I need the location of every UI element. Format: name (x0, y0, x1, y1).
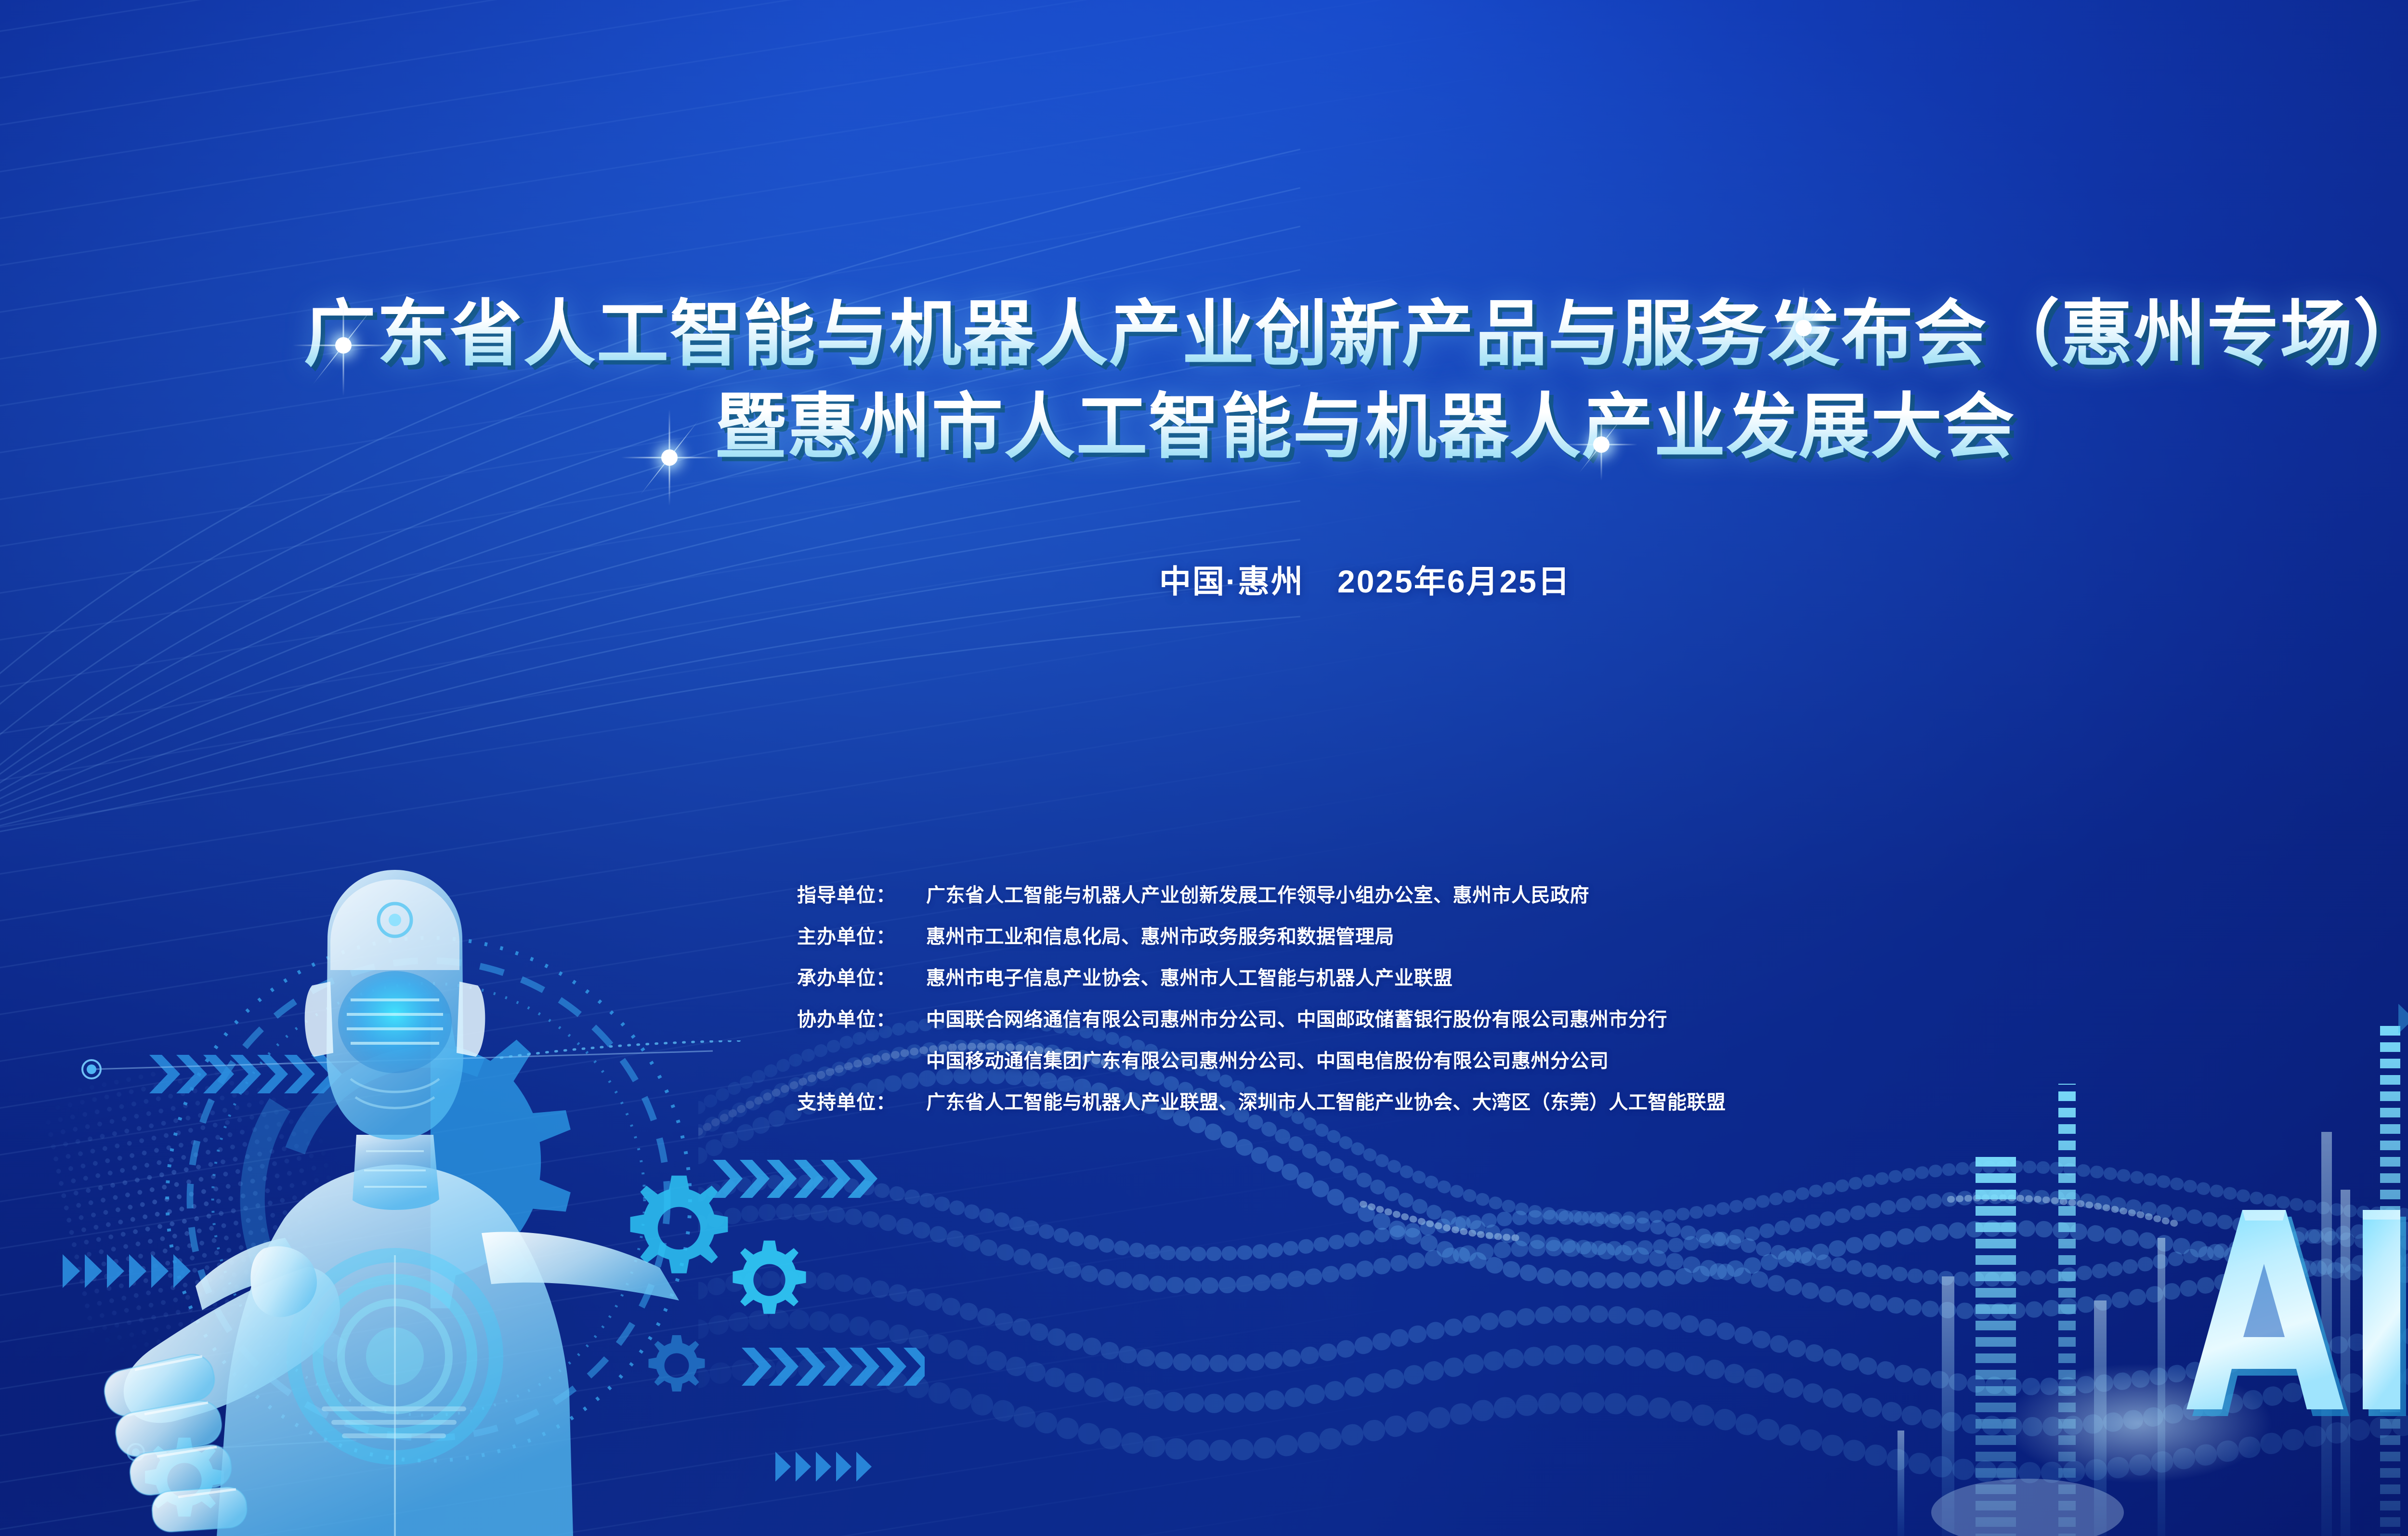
page-title-line-1: 广东省人工智能与机器人产业创新产品与服务发布会（惠州专场） (0, 287, 2408, 381)
conference-banner: 广东省人工智能与机器人产业创新产品与服务发布会（惠州专场） 暨惠州市人工智能与机… (0, 0, 2408, 1536)
organizer-value: 惠州市工业和信息化局、惠州市政务服务和数据管理局 (926, 921, 1394, 949)
organizer-row-continuation: 协办单位： 中国移动通信集团广东有限公司惠州分公司、中国电信股份有限公司惠州分公… (797, 1045, 1726, 1073)
robot-illustration (58, 853, 713, 1536)
organizer-row: 主办单位： 惠州市工业和信息化局、惠州市政务服务和数据管理局 (797, 921, 1726, 949)
organizer-label: 主办单位： (797, 921, 926, 949)
organizer-row: 指导单位： 广东省人工智能与机器人产业创新发展工作领导小组办公室、惠州市人民政府 (797, 880, 1726, 907)
organizer-value: 中国联合网络通信有限公司惠州市分公司、中国邮政储蓄银行股份有限公司惠州市分行 (926, 1004, 1667, 1032)
organizer-label: 承办单位： (797, 962, 926, 990)
organizer-value: 惠州市电子信息产业协会、惠州市人工智能与机器人产业联盟 (926, 962, 1453, 990)
organizer-row: 支持单位： 广东省人工智能与机器人产业联盟、深圳市人工智能产业协会、大湾区（东莞… (797, 1087, 1726, 1115)
organizer-value: 中国移动通信集团广东有限公司惠州分公司、中国电信股份有限公司惠州分公司 (926, 1045, 1609, 1073)
chevron-arrow-cluster-icon (775, 1450, 886, 1483)
chevron-arrow-cluster-icon (713, 1156, 886, 1202)
organizer-value: 广东省人工智能与机器人产业创新发展工作领导小组办公室、惠州市人民政府 (926, 880, 1589, 907)
organizer-value: 广东省人工智能与机器人产业联盟、深圳市人工智能产业协会、大湾区（东莞）人工智能联… (926, 1087, 1726, 1115)
organizer-row: 承办单位： 惠州市电子信息产业协会、惠州市人工智能与机器人产业联盟 (797, 962, 1726, 990)
gear-medium-icon (722, 1233, 816, 1327)
date-location-line: 中国·惠州 2025年6月25日 (0, 556, 2408, 602)
organizer-label: 协办单位： (797, 1004, 926, 1032)
organizer-label: 支持单位： (797, 1087, 926, 1115)
headline-block: 广东省人工智能与机器人产业创新产品与服务发布会（惠州专场） 暨惠州市人工智能与机… (0, 287, 2408, 473)
page-title-line-2: 暨惠州市人工智能与机器人产业发展大会 (0, 381, 2408, 473)
chevron-arrow-cluster-icon (742, 1344, 925, 1390)
chevron-arrow-cluster-icon (2398, 1002, 2408, 1036)
ai-logo (2114, 1199, 2408, 1426)
organizer-row: 协办单位： 中国联合网络通信有限公司惠州市分公司、中国邮政储蓄银行股份有限公司惠… (797, 1004, 1726, 1032)
organizer-label: 指导单位： (797, 880, 926, 907)
organizer-credits-block: 指导单位： 广东省人工智能与机器人产业创新发展工作领导小组办公室、惠州市人民政府… (797, 880, 1726, 1128)
